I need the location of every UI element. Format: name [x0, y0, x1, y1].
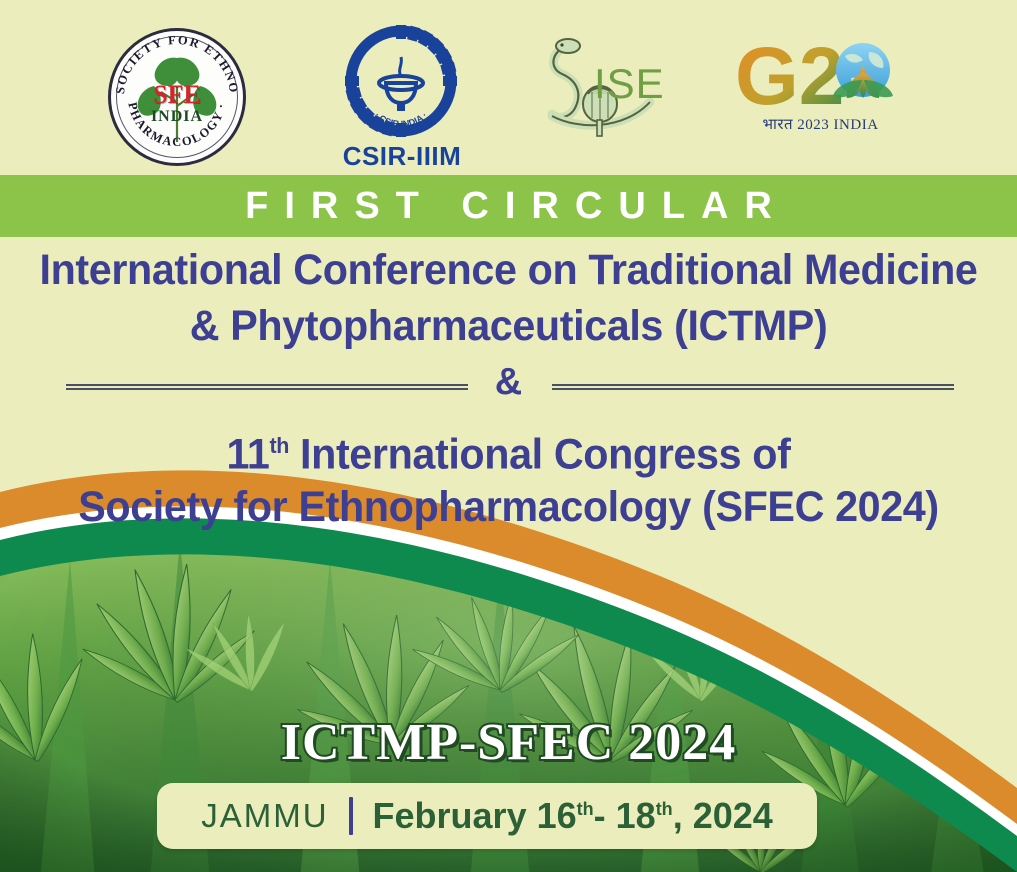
- sfe-india-logo: SOCIETY FOR ETHNO PHARMACOLOGY · SFE IND…: [108, 28, 254, 170]
- conference-title-line-2: & Phytopharmaceuticals (ICTMP): [20, 293, 996, 349]
- ise-label: ISE: [594, 60, 665, 108]
- congress-line-1-rest: International Congress of: [289, 430, 790, 478]
- venue-city: JAMMU: [201, 797, 328, 835]
- g20-india-logo: G2 भारत 2023 INDIA: [733, 32, 908, 144]
- date-day-start-suffix: th: [577, 799, 594, 819]
- first-circular-label: FIRST CIRCULAR: [229, 185, 788, 228]
- congress-ordinal-suffix: th: [269, 433, 288, 458]
- conference-poster: SOCIETY FOR ETHNO PHARMACOLOGY · SFE IND…: [0, 0, 1017, 872]
- date-month: February: [373, 795, 537, 836]
- conference-title-line-1: International Conference on Traditional …: [20, 237, 996, 293]
- title-block: International Conference on Traditional …: [0, 237, 1017, 532]
- pill-separator: [349, 797, 353, 835]
- svg-text:G2: G2: [735, 32, 844, 122]
- event-dates: February 16th- 18th, 2024: [373, 795, 773, 837]
- csir-iiim-logo: · CSIR INDIA · CSIR-IIIM: [333, 25, 471, 170]
- ise-logo: ISE: [538, 30, 688, 140]
- date-day-end-suffix: th: [656, 799, 673, 819]
- g20-mark: G2: [733, 32, 908, 122]
- event-name: ICTMP-SFEC 2024: [0, 713, 1017, 772]
- date-year: , 2024: [673, 795, 773, 836]
- date-day-start: 16: [537, 795, 577, 836]
- date-day-end: 18: [616, 795, 656, 836]
- g20-caption: भारत 2023 INDIA: [733, 114, 908, 134]
- sfe-country: INDIA: [108, 108, 246, 126]
- first-circular-banner: FIRST CIRCULAR: [0, 175, 1017, 237]
- ampersand: &: [0, 361, 1017, 404]
- congress-title-line-2: Society for Ethnopharmacology (SFEC 2024…: [20, 483, 996, 532]
- ampersand-divider: &: [0, 359, 1017, 417]
- logo-strip: SOCIETY FOR ETHNO PHARMACOLOGY · SFE IND…: [0, 0, 1017, 175]
- sfe-acronym: SFE: [108, 80, 246, 110]
- venue-date-pill: JAMMU February 16th- 18th, 2024: [157, 783, 817, 849]
- congress-title-line-1: 11th International Congress of: [20, 421, 996, 479]
- congress-ordinal: 11: [227, 430, 270, 478]
- csir-iiim-label: CSIR-IIIM: [333, 141, 471, 172]
- csir-gear-mark: · CSIR INDIA ·: [341, 25, 461, 143]
- date-dash: -: [594, 795, 616, 836]
